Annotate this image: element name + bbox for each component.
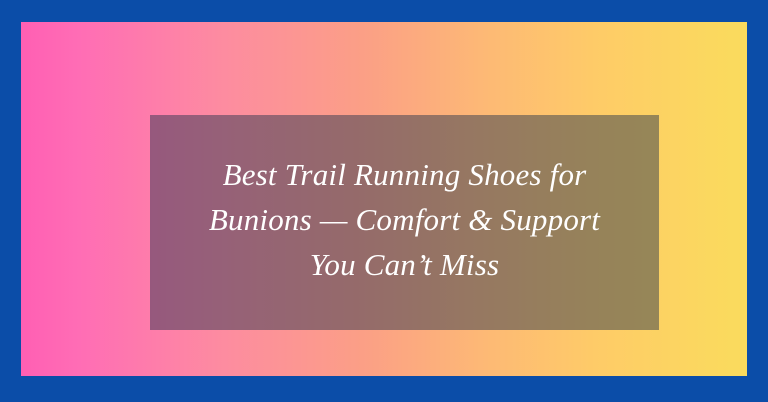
featured-image-banner: Best Trail Running Shoes for Bunions — C… — [0, 0, 768, 402]
headline-overlay-card: Best Trail Running Shoes for Bunions — C… — [150, 115, 659, 330]
gradient-background-panel: Best Trail Running Shoes for Bunions — C… — [21, 22, 747, 376]
headline-line-2: Bunions — Comfort & Support — [176, 197, 633, 242]
headline-line-3: You Can’t Miss — [176, 242, 633, 287]
headline-line-1: Best Trail Running Shoes for — [176, 152, 633, 197]
banner-headline: Best Trail Running Shoes for Bunions — C… — [176, 152, 633, 287]
